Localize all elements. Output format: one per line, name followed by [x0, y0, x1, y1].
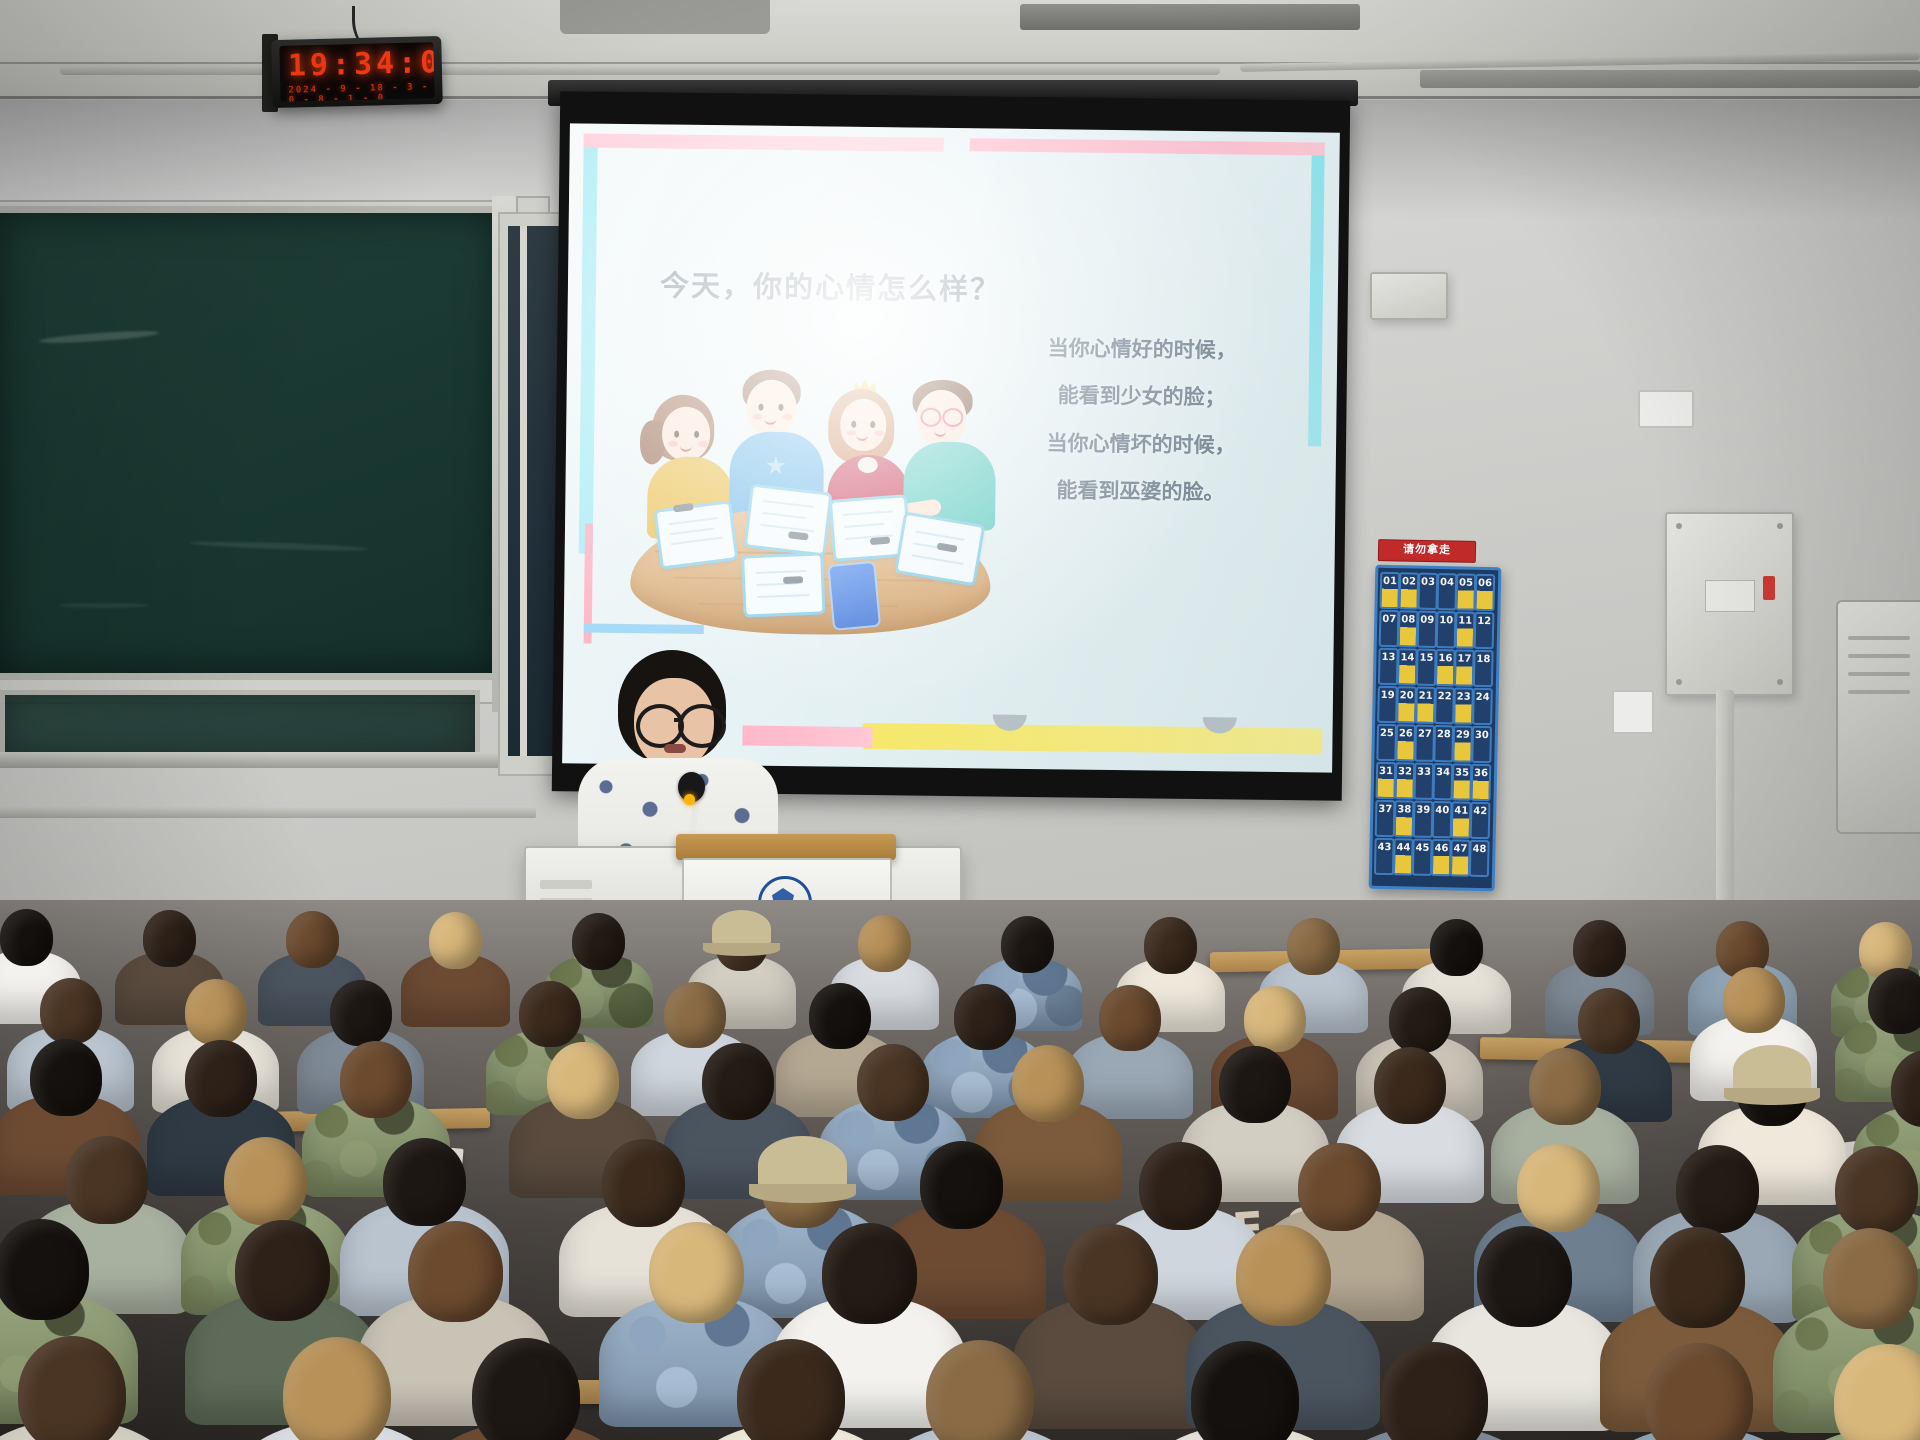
pocket-number: 36 — [1473, 768, 1489, 779]
panel-indicator — [1763, 576, 1775, 600]
classroom-photo-scene: 今天，你的心情怎么样？ — [0, 0, 1920, 1440]
audience-head — [1650, 1227, 1745, 1328]
pocket-07[interactable]: 07 — [1379, 610, 1400, 647]
audience-head — [1645, 1343, 1753, 1440]
audience-head — [0, 909, 53, 966]
pocket-number: 12 — [1476, 616, 1492, 627]
pocket-number: 47 — [1452, 843, 1468, 854]
pocket-34[interactable]: 34 — [1432, 763, 1453, 800]
pocket-37[interactable]: 37 — [1375, 800, 1396, 837]
audience-head — [1517, 1144, 1600, 1232]
audience-head — [1835, 1146, 1918, 1234]
chalk-tray — [0, 752, 516, 768]
audience-head — [1099, 985, 1161, 1051]
illus-tablet — [827, 561, 881, 631]
audience-head — [857, 1044, 929, 1121]
pocket-number: 13 — [1380, 652, 1396, 663]
audience-head — [0, 1219, 89, 1320]
audience-head — [737, 1339, 845, 1440]
air-conditioner[interactable] — [1836, 600, 1920, 834]
pocket-29[interactable]: 29 — [1452, 725, 1473, 762]
pocket-03[interactable]: 03 — [1417, 573, 1438, 610]
audience-head — [702, 1043, 774, 1120]
audience-head — [1244, 986, 1306, 1052]
audience-head — [1389, 987, 1451, 1053]
audience-head — [1578, 988, 1640, 1054]
ceiling-duct-right — [1420, 70, 1920, 88]
pocket-number: 14 — [1399, 652, 1415, 663]
clock-time: 19:34:01 — [287, 44, 434, 83]
audience-head — [809, 983, 871, 1049]
pocket-number: 11 — [1457, 615, 1473, 626]
pocket-number: 01 — [1382, 576, 1398, 587]
audience-head — [1012, 1045, 1084, 1122]
pocket-42[interactable]: 42 — [1470, 802, 1491, 839]
audience-head — [519, 981, 581, 1047]
slide-line-1: 当你心情好的时候， — [987, 324, 1298, 375]
pocket-number: 22 — [1437, 691, 1453, 702]
pocket-04[interactable]: 04 — [1436, 573, 1457, 610]
pocket-08[interactable]: 08 — [1398, 610, 1419, 647]
pocket-21[interactable]: 21 — [1415, 687, 1436, 724]
pocket-38[interactable]: 38 — [1394, 800, 1415, 837]
pocket-35[interactable]: 35 — [1451, 763, 1472, 800]
pocket-46[interactable]: 46 — [1431, 839, 1452, 876]
pocket-number: 42 — [1472, 806, 1488, 817]
lecturer-glasses-right — [678, 704, 726, 748]
pocket-20[interactable]: 20 — [1396, 686, 1417, 723]
chalkboard-lower-strip — [0, 690, 480, 760]
pocket-number: 15 — [1418, 653, 1434, 664]
pocket-06[interactable]: 06 — [1474, 574, 1495, 611]
audience-head — [472, 1338, 580, 1440]
lecturer-mouth — [664, 744, 686, 753]
pocket-26[interactable]: 26 — [1395, 724, 1416, 761]
audience-head — [1374, 1047, 1446, 1124]
pocket-41[interactable]: 41 — [1451, 801, 1472, 838]
wall-speaker-box — [1370, 272, 1448, 320]
audience-head — [143, 910, 196, 967]
pocket-number: 24 — [1475, 692, 1491, 703]
slide-deco-yellow-bottom — [862, 723, 1322, 755]
pocket-23[interactable]: 23 — [1453, 687, 1474, 724]
illus-notebook-1 — [653, 500, 738, 569]
audience-head — [1834, 1344, 1920, 1440]
pocket-25[interactable]: 25 — [1376, 724, 1397, 761]
student-audience: OF CH — [0, 900, 1920, 1440]
audience-head — [858, 915, 911, 972]
audience-head — [1219, 1046, 1291, 1123]
audience-head — [1287, 918, 1340, 975]
pocket-number: 31 — [1378, 766, 1394, 777]
audience-head — [1573, 920, 1626, 977]
audience-head — [1723, 967, 1785, 1033]
lecturer-glasses-left — [636, 704, 684, 748]
pocket-43[interactable]: 43 — [1374, 838, 1395, 875]
pocket-30[interactable]: 30 — [1471, 726, 1492, 763]
podium-vent-1 — [540, 880, 592, 889]
electrical-panel[interactable] — [1665, 512, 1794, 696]
illus-notebook-5 — [741, 552, 825, 617]
audience-person — [0, 1336, 183, 1440]
pocket-17[interactable]: 17 — [1454, 649, 1475, 686]
ceiling-beam — [560, 0, 770, 34]
window-mullion-a — [520, 226, 527, 756]
audience-head — [547, 1042, 619, 1119]
pocket-16[interactable]: 16 — [1435, 649, 1456, 686]
audience-head — [1139, 1142, 1222, 1230]
pocket-number: 39 — [1415, 805, 1431, 816]
pocket-number: 29 — [1455, 729, 1471, 740]
audience-head — [286, 911, 339, 968]
pocket-number: 38 — [1396, 804, 1412, 815]
pocket-28[interactable]: 28 — [1433, 725, 1454, 762]
audience-head — [1001, 916, 1054, 973]
slide-deco-cyan-left — [579, 133, 598, 553]
audience-head — [340, 1041, 412, 1118]
pocket-12[interactable]: 12 — [1474, 612, 1495, 649]
audience-head — [1298, 1143, 1381, 1231]
slide-text-block: 当你心情好的时候， 能看到少女的脸； 当你心情坏的时候， 能看到巫婆的脸。 — [985, 324, 1297, 517]
audience-cap-brim — [1724, 1088, 1820, 1105]
pocket-39[interactable]: 39 — [1413, 801, 1434, 838]
pocket-number: 46 — [1433, 843, 1449, 854]
audience-head — [1380, 1342, 1488, 1440]
clock-date-row: 2024 - 9 - 18 - 3 - 0 - 8 - 1 - 0 — [288, 82, 434, 102]
audience-head — [602, 1139, 685, 1227]
audience-head — [1823, 1228, 1918, 1329]
pocket-number: 07 — [1381, 614, 1397, 625]
audience-head — [30, 1039, 102, 1116]
pocket-40[interactable]: 40 — [1432, 801, 1453, 838]
pocket-number: 44 — [1395, 842, 1411, 853]
pocket-27[interactable]: 27 — [1414, 725, 1435, 762]
audience-head — [926, 1340, 1034, 1440]
illus-notebook-2 — [744, 483, 833, 556]
pocket-05[interactable]: 05 — [1455, 573, 1476, 610]
pocket-24[interactable]: 24 — [1472, 688, 1493, 725]
audience-head — [920, 1141, 1003, 1229]
audience-cap-brim — [749, 1184, 856, 1203]
pocket-number: 40 — [1434, 805, 1450, 816]
pocket-number: 37 — [1377, 804, 1393, 815]
pocket-11[interactable]: 11 — [1455, 611, 1476, 648]
audience-head — [185, 979, 247, 1045]
podium-desktop — [676, 834, 896, 860]
wall-outlet-plate[interactable] — [1638, 390, 1694, 428]
pocket-number: 41 — [1453, 805, 1469, 816]
pocket-01[interactable]: 01 — [1379, 572, 1400, 609]
audience-head — [185, 1040, 257, 1117]
audience-head — [408, 1221, 503, 1322]
pocket-number: 16 — [1437, 653, 1453, 664]
pocket-number: 43 — [1376, 842, 1392, 853]
audience-head — [1477, 1226, 1572, 1327]
audience-person — [415, 1338, 637, 1440]
pocket-number: 28 — [1436, 729, 1452, 740]
audience-person — [1323, 1342, 1545, 1440]
pocket-number: 08 — [1400, 614, 1416, 625]
pocket-number: 05 — [1458, 577, 1474, 588]
pocket-31[interactable]: 31 — [1376, 762, 1397, 799]
audience-head — [572, 913, 625, 970]
audience-head — [383, 1138, 466, 1226]
audience-head — [1236, 1225, 1331, 1326]
pocket-number: 30 — [1474, 730, 1490, 741]
pocket-47[interactable]: 47 — [1450, 839, 1471, 876]
pocket-10[interactable]: 10 — [1436, 611, 1457, 648]
slide-deco-cyan-right — [1308, 146, 1325, 446]
pocket-number: 20 — [1399, 690, 1415, 701]
slide-line-4: 能看到巫婆的脸。 — [985, 466, 1296, 517]
pocket-number: 19 — [1380, 690, 1396, 701]
chalkboard-left — [0, 206, 506, 680]
pocket-organizer-sign: 请勿拿走 — [1378, 539, 1476, 563]
audience-head — [40, 978, 102, 1044]
audience-head — [1191, 1341, 1299, 1440]
pocket-33[interactable]: 33 — [1413, 763, 1434, 800]
pocket-02[interactable]: 02 — [1398, 572, 1419, 609]
audience-head — [664, 982, 726, 1048]
audience-head — [649, 1222, 744, 1323]
pocket-09[interactable]: 09 — [1417, 611, 1438, 648]
slide-deco-pink-top — [584, 133, 944, 151]
audience-head — [283, 1337, 391, 1440]
audience-head — [18, 1336, 126, 1440]
pocket-number: 04 — [1439, 577, 1455, 588]
pocket-14[interactable]: 14 — [1397, 648, 1418, 685]
audience-person — [1777, 1344, 1920, 1440]
ceiling-duct — [1020, 4, 1360, 30]
pocket-36[interactable]: 36 — [1470, 764, 1491, 801]
pocket-number: 34 — [1435, 767, 1451, 778]
slide-deco-pink-top-right — [970, 138, 1325, 155]
audience-head — [1676, 1145, 1759, 1233]
lecturer-glasses-bridge — [674, 718, 682, 722]
audience-head — [1868, 968, 1920, 1034]
audience-head — [235, 1220, 330, 1321]
digital-wall-clock: 19:34:01 2024 - 9 - 18 - 3 - 0 - 8 - 1 -… — [271, 36, 443, 108]
pocket-number: 32 — [1397, 766, 1413, 777]
microphone-led — [684, 794, 695, 805]
audience-head — [1430, 919, 1483, 976]
audience-cap-brim — [703, 943, 780, 956]
pocket-number: 25 — [1379, 728, 1395, 739]
audience-head — [429, 912, 482, 969]
audience-head — [954, 984, 1016, 1050]
audience-head — [1529, 1048, 1601, 1125]
slide-line-3: 当你心情坏的时候， — [986, 419, 1297, 470]
audience-head — [822, 1223, 917, 1324]
ceiling-pipe — [60, 66, 1220, 75]
pocket-number: 48 — [1471, 844, 1487, 855]
pocket-22[interactable]: 22 — [1434, 687, 1455, 724]
pocket-number: 26 — [1398, 728, 1414, 739]
pocket-number: 27 — [1417, 729, 1433, 740]
pocket-number: 17 — [1456, 653, 1472, 664]
light-switch-plate[interactable] — [1612, 690, 1654, 734]
pocket-number: 03 — [1420, 577, 1436, 588]
pocket-45[interactable]: 45 — [1412, 839, 1433, 876]
pocket-number: 06 — [1477, 578, 1493, 589]
audience-head — [330, 980, 392, 1046]
pocket-number: 10 — [1438, 615, 1454, 626]
pocket-44[interactable]: 44 — [1393, 838, 1414, 875]
pocket-number: 09 — [1419, 615, 1435, 626]
pocket-18[interactable]: 18 — [1473, 650, 1494, 687]
slide-illustration — [634, 354, 988, 648]
audience-head — [1063, 1224, 1158, 1325]
pocket-number: 35 — [1454, 767, 1470, 778]
pocket-number: 23 — [1456, 691, 1472, 702]
pocket-15[interactable]: 15 — [1416, 649, 1437, 686]
pocket-number: 02 — [1401, 576, 1417, 587]
pocket-number: 33 — [1416, 767, 1432, 778]
pocket-19[interactable]: 19 — [1377, 686, 1398, 723]
pocket-number: 21 — [1418, 691, 1434, 702]
pocket-32[interactable]: 32 — [1395, 762, 1416, 799]
pocket-13[interactable]: 13 — [1378, 648, 1399, 685]
phone-pocket-organizer[interactable]: 0102030405060708091011121314151617181920… — [1369, 565, 1502, 892]
chalk-tray-lower — [0, 806, 536, 818]
pocket-48[interactable]: 48 — [1469, 840, 1490, 877]
audience-head — [224, 1137, 307, 1225]
pocket-number: 18 — [1475, 654, 1491, 665]
pocket-number: 45 — [1414, 843, 1430, 854]
audience-person — [869, 1340, 1091, 1440]
slide-line-2: 能看到少女的脸； — [986, 372, 1297, 423]
slide-title: 今天，你的心情怎么样？ — [660, 262, 1002, 308]
audience-head — [65, 1136, 148, 1224]
audience-head — [1144, 917, 1197, 974]
